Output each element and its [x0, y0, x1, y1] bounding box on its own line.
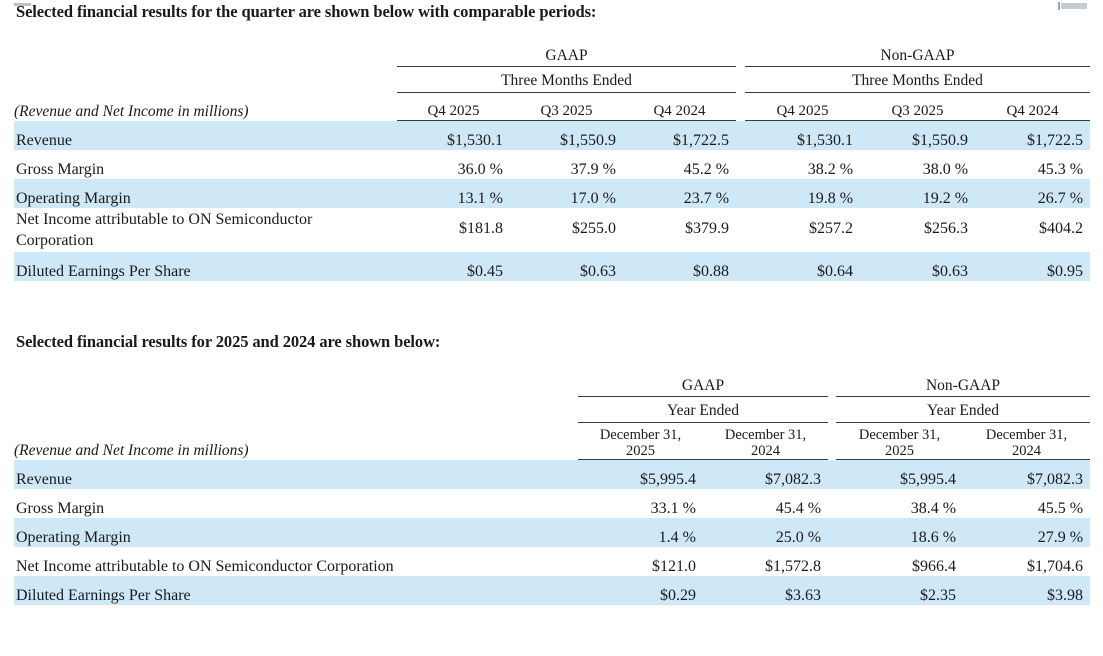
- cell-value: $0.95: [975, 252, 1090, 281]
- cell-value: 1.4 %: [578, 518, 703, 547]
- table-row: Revenue $1,530.1 $1,550.9 $1,722.5 $1,53…: [14, 121, 1090, 150]
- column-header-line1: December 31,: [725, 427, 806, 443]
- row-label-diluted-eps: Diluted Earnings Per Share: [14, 576, 578, 605]
- period-label-non-gaap: Year Ended: [836, 397, 1090, 423]
- period-label-non-gaap: Three Months Ended: [745, 67, 1090, 93]
- row-label-diluted-eps: Diluted Earnings Per Share: [14, 252, 397, 281]
- cell-value: 27.9 %: [963, 518, 1090, 547]
- column-header-line1: December 31,: [859, 427, 940, 443]
- column-header-gaap-q4-2025: Q4 2025: [397, 93, 510, 121]
- cell-value: 37.9 %: [510, 150, 623, 179]
- column-header-nongaap-q4-2024: Q4 2024: [975, 93, 1090, 121]
- group-gap: [828, 423, 836, 460]
- annual-results-table: GAAP Non-GAAP Year Ended Year Ended (Rev…: [14, 374, 1090, 605]
- section-heading-quarter: Selected financial results for the quart…: [16, 2, 596, 22]
- cell-value: 45.3 %: [975, 150, 1090, 179]
- cell-value: 26.7 %: [975, 179, 1090, 208]
- group-gap: [736, 179, 745, 208]
- cell-value: $0.29: [578, 576, 703, 605]
- column-header-line1: December 31,: [600, 427, 681, 443]
- quarterly-results-table: GAAP Non-GAAP Three Months Ended Three M…: [14, 44, 1090, 281]
- cell-value: $379.9: [623, 208, 736, 252]
- group-gap: [736, 150, 745, 179]
- group-header-non-gaap: Non-GAAP: [836, 374, 1090, 397]
- row-label-gross-margin: Gross Margin: [14, 150, 397, 179]
- cell-value: 33.1 %: [578, 489, 703, 518]
- period-header-row: Three Months Ended Three Months Ended: [14, 67, 1090, 93]
- cell-value: $1,572.8: [703, 547, 828, 576]
- group-gap: [736, 44, 745, 67]
- row-label-net-income: Net Income attributable to ON Semiconduc…: [14, 547, 578, 576]
- row-label-revenue: Revenue: [14, 460, 578, 489]
- group-header-gaap: GAAP: [397, 44, 736, 67]
- cell-value: 45.5 %: [963, 489, 1090, 518]
- cell-value: 38.0 %: [860, 150, 975, 179]
- table-row: Net Income attributable to ON Semiconduc…: [14, 208, 1090, 252]
- units-label: (Revenue and Net Income in millions): [14, 423, 578, 460]
- column-header-nongaap-q3-2025: Q3 2025: [860, 93, 975, 121]
- cell-value: $181.8: [397, 208, 510, 252]
- cell-value: $1,704.6: [963, 547, 1090, 576]
- group-header-non-gaap: Non-GAAP: [745, 44, 1090, 67]
- cell-value: 17.0 %: [510, 179, 623, 208]
- group-gap: [736, 208, 745, 252]
- row-label-net-income: Net Income attributable to ON Semiconduc…: [14, 208, 397, 252]
- group-header-spacer: [14, 374, 578, 397]
- cell-value: $0.63: [510, 252, 623, 281]
- group-gap: [828, 374, 836, 397]
- group-gap: [828, 576, 836, 605]
- cell-value: 36.0 %: [397, 150, 510, 179]
- table-row: Net Income attributable to ON Semiconduc…: [14, 547, 1090, 576]
- units-label: (Revenue and Net Income in millions): [14, 93, 397, 121]
- group-gap: [736, 252, 745, 281]
- column-header-gaap-q3-2025: Q3 2025: [510, 93, 623, 121]
- table-row: Diluted Earnings Per Share $0.29 $3.63 $…: [14, 576, 1090, 605]
- column-header-row: (Revenue and Net Income in millions) Dec…: [14, 423, 1090, 460]
- period-label-gaap: Three Months Ended: [397, 67, 736, 93]
- column-header-line1: December 31,: [986, 427, 1067, 443]
- group-gap: [736, 121, 745, 150]
- table-row: Operating Margin 13.1 % 17.0 % 23.7 % 19…: [14, 179, 1090, 208]
- cell-value: $0.64: [745, 252, 860, 281]
- cell-value: $1,530.1: [397, 121, 510, 150]
- cell-value: 19.2 %: [860, 179, 975, 208]
- group-gap: [736, 93, 745, 121]
- cell-value: $5,995.4: [836, 460, 963, 489]
- cell-value: 19.8 %: [745, 179, 860, 208]
- table-row: Gross Margin 33.1 % 45.4 % 38.4 % 45.5 %: [14, 489, 1090, 518]
- cell-value: $0.88: [623, 252, 736, 281]
- cell-value: 23.7 %: [623, 179, 736, 208]
- group-gap: [736, 67, 745, 93]
- row-label-revenue: Revenue: [14, 121, 397, 150]
- column-header-gaap-q4-2024: Q4 2024: [623, 93, 736, 121]
- cell-value: $3.63: [703, 576, 828, 605]
- group-header-spacer: [14, 44, 397, 67]
- cell-value: 38.4 %: [836, 489, 963, 518]
- group-header-row: GAAP Non-GAAP: [14, 44, 1090, 67]
- cell-value: $7,082.3: [963, 460, 1090, 489]
- group-header-row: GAAP Non-GAAP: [14, 374, 1090, 397]
- group-gap: [828, 547, 836, 576]
- period-header-spacer: [14, 397, 578, 423]
- column-header-nongaap-q4-2025: Q4 2025: [745, 93, 860, 121]
- period-label-gaap: Year Ended: [578, 397, 828, 423]
- group-header-gaap: GAAP: [578, 374, 828, 397]
- table-row: Revenue $5,995.4 $7,082.3 $5,995.4 $7,08…: [14, 460, 1090, 489]
- page-edge-mark-right: [1061, 3, 1087, 9]
- column-header-row: (Revenue and Net Income in millions) Q4 …: [14, 93, 1090, 121]
- period-header-row: Year Ended Year Ended: [14, 397, 1090, 423]
- cell-value: 38.2 %: [745, 150, 860, 179]
- cell-value: 45.4 %: [703, 489, 828, 518]
- cell-value: $1,722.5: [975, 121, 1090, 150]
- cell-value: $1,550.9: [510, 121, 623, 150]
- column-header-line2: 2025: [885, 443, 914, 459]
- row-label-gross-margin: Gross Margin: [14, 489, 578, 518]
- period-header-spacer: [14, 67, 397, 93]
- cell-value: $257.2: [745, 208, 860, 252]
- cell-value: $2.35: [836, 576, 963, 605]
- cell-value: $0.63: [860, 252, 975, 281]
- column-header-nongaap-dec-2024: December 31, 2024: [963, 423, 1090, 460]
- cell-value: 13.1 %: [397, 179, 510, 208]
- column-header-gaap-dec-2024: December 31, 2024: [703, 423, 828, 460]
- cell-value: $256.3: [860, 208, 975, 252]
- row-label-operating-margin: Operating Margin: [14, 179, 397, 208]
- cell-value: $255.0: [510, 208, 623, 252]
- column-header-gaap-dec-2025: December 31, 2025: [578, 423, 703, 460]
- cell-value: $404.2: [975, 208, 1090, 252]
- group-gap: [828, 489, 836, 518]
- row-label-net-income-text: Net Income attributable to ON Semiconduc…: [16, 209, 316, 250]
- column-header-line2: 2024: [1012, 443, 1041, 459]
- cell-value: $3.98: [963, 576, 1090, 605]
- cell-value: $0.45: [397, 252, 510, 281]
- cell-value: $5,995.4: [578, 460, 703, 489]
- group-gap: [828, 397, 836, 423]
- cell-value: $121.0: [578, 547, 703, 576]
- group-gap: [828, 518, 836, 547]
- group-gap: [828, 460, 836, 489]
- cell-value: $1,530.1: [745, 121, 860, 150]
- cell-value: $1,722.5: [623, 121, 736, 150]
- table-row: Operating Margin 1.4 % 25.0 % 18.6 % 27.…: [14, 518, 1090, 547]
- cell-value: 25.0 %: [703, 518, 828, 547]
- cell-value: 18.6 %: [836, 518, 963, 547]
- cell-value: 45.2 %: [623, 150, 736, 179]
- row-label-operating-margin: Operating Margin: [14, 518, 578, 547]
- cell-value: $966.4: [836, 547, 963, 576]
- column-header-line2: 2024: [751, 443, 780, 459]
- cell-value: $1,550.9: [860, 121, 975, 150]
- column-header-line2: 2025: [626, 443, 655, 459]
- table-row: Gross Margin 36.0 % 37.9 % 45.2 % 38.2 %…: [14, 150, 1090, 179]
- section-heading-annual: Selected financial results for 2025 and …: [16, 332, 440, 352]
- document-page: Selected financial results for the quart…: [0, 0, 1103, 656]
- column-header-nongaap-dec-2025: December 31, 2025: [836, 423, 963, 460]
- table-row: Diluted Earnings Per Share $0.45 $0.63 $…: [14, 252, 1090, 281]
- cell-value: $7,082.3: [703, 460, 828, 489]
